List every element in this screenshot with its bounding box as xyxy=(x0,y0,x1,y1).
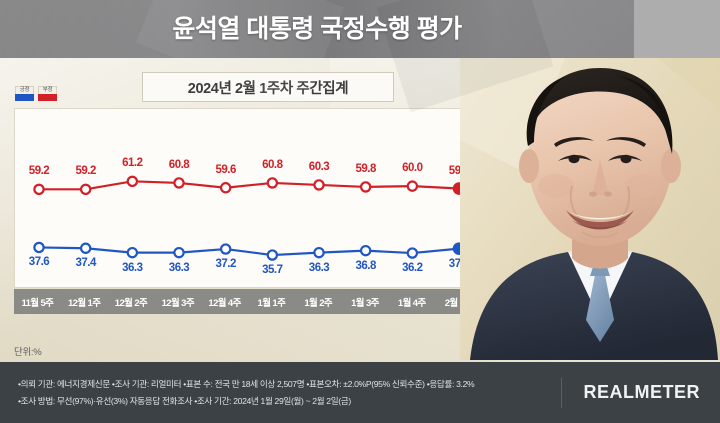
x-axis-tick: 12월 3주 xyxy=(154,295,201,309)
header-right-block xyxy=(634,0,720,58)
x-axis-band: 11월 5주12월 1주12월 2주12월 3주12월 4주1월 1주1월 2주… xyxy=(14,289,482,314)
footer-line-2: •조사 방법: 무선(97%)·유선(3%) 자동응답 전화조사 •조사 기간:… xyxy=(18,393,561,410)
data-point-label: 60.3 xyxy=(309,161,329,173)
x-axis-tick: 12월 4주 xyxy=(201,295,248,309)
data-point-marker xyxy=(128,248,137,257)
realmeter-logo: REALMETER xyxy=(584,382,720,403)
data-point-label: 59.2 xyxy=(29,165,49,177)
x-axis-tick: 1월 1주 xyxy=(248,295,295,309)
page-title: 윤석열 대통령 국정수행 평가 xyxy=(0,0,634,58)
data-point-label: 60.8 xyxy=(169,159,189,171)
data-point-label: 59.8 xyxy=(355,163,375,175)
data-point-label: 60.0 xyxy=(402,162,422,174)
data-point-label: 36.8 xyxy=(355,260,375,272)
unit-label: 단위:% xyxy=(14,344,41,358)
x-axis-tick: 12월 1주 xyxy=(61,295,108,309)
legend: 긍정 부정 xyxy=(15,86,57,101)
poll-graphic: 윤석열 대통령 국정수행 평가 2024년 2월 1주차 주간집계 긍정 부정 … xyxy=(0,0,720,423)
series-line-positive xyxy=(39,247,459,255)
data-point-marker xyxy=(361,246,370,255)
data-point-label: 36.2 xyxy=(402,262,422,274)
x-axis-tick: 1월 3주 xyxy=(342,295,389,309)
chart-panel: 59.259.261.260.859.660.860.359.860.059.4… xyxy=(14,108,482,288)
data-point-marker xyxy=(314,248,323,257)
data-point-label: 59.6 xyxy=(215,164,235,176)
data-point-marker xyxy=(408,248,417,257)
footer-methodology: •의뢰 기관: 에너지경제신문 •조사 기관: 리얼미터 •표본 수: 전국 만… xyxy=(0,376,561,410)
footer-bar: •의뢰 기관: 에너지경제신문 •조사 기관: 리얼미터 •표본 수: 전국 만… xyxy=(0,362,720,423)
legend-item-negative: 부정 xyxy=(38,86,57,101)
legend-label-positive: 긍정 xyxy=(15,86,34,94)
data-point-label: 36.3 xyxy=(169,262,189,274)
data-point-label: 37.6 xyxy=(29,256,49,268)
legend-swatch-positive xyxy=(15,94,34,101)
data-point-marker xyxy=(81,244,90,253)
series-line-negative xyxy=(39,181,459,189)
data-point-marker xyxy=(221,183,230,192)
data-point-marker xyxy=(408,182,417,191)
data-point-marker xyxy=(34,243,43,252)
data-point-marker xyxy=(268,178,277,187)
x-axis-tick: 1월 4주 xyxy=(388,295,435,309)
x-axis-tick: 11월 5주 xyxy=(14,295,61,309)
data-point-label: 37.2 xyxy=(215,258,235,270)
data-point-label: 37.4 xyxy=(75,257,95,269)
data-point-marker xyxy=(221,244,230,253)
x-axis-tick: 12월 2주 xyxy=(108,295,155,309)
data-point-label: 36.3 xyxy=(309,262,329,274)
data-point-marker xyxy=(361,182,370,191)
data-point-marker xyxy=(314,180,323,189)
data-point-label: 59.2 xyxy=(75,165,95,177)
legend-label-negative: 부정 xyxy=(38,86,57,94)
data-point-marker xyxy=(128,177,137,186)
legend-swatch-negative xyxy=(38,94,57,101)
footer-line-1: •의뢰 기관: 에너지경제신문 •조사 기관: 리얼미터 •표본 수: 전국 만… xyxy=(18,376,561,393)
footer-divider xyxy=(561,378,562,408)
header-banner: 윤석열 대통령 국정수행 평가 xyxy=(0,0,634,58)
x-axis-tick: 1월 2주 xyxy=(295,295,342,309)
data-point-marker xyxy=(174,248,183,257)
data-point-label: 60.8 xyxy=(262,159,282,171)
legend-item-positive: 긍정 xyxy=(15,86,34,101)
data-point-marker xyxy=(174,178,183,187)
data-point-label: 61.2 xyxy=(122,157,142,169)
data-point-marker xyxy=(268,250,277,259)
data-point-marker xyxy=(34,185,43,194)
data-point-label: 35.7 xyxy=(262,264,282,276)
data-point-label: 36.3 xyxy=(122,262,142,274)
data-point-marker xyxy=(81,185,90,194)
